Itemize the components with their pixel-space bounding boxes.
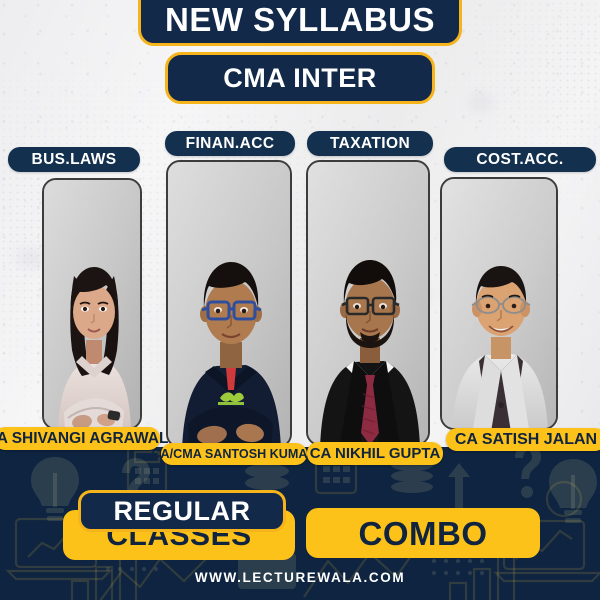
subject-tag-label: FINAN.ACC [186,135,275,153]
badge-new-syllabus-label: NEW SYLLABUS [165,1,435,39]
faculty-name-label: CA/CMA SANTOSH KUMAR [151,447,316,461]
badge-regular: REGULAR [78,490,286,532]
subject-tag-cost-acc: COST.ACC. [444,147,596,172]
subject-tag-taxation: TAXATION [307,131,433,156]
faculty-name-plate-shivangi-agrawal: CA SHIVANGI AGRAWAL [0,427,160,450]
faculty-portrait-satish-jalan [442,179,556,428]
subject-tag-label: BUS.LAWS [31,151,116,169]
faculty-name-label: CA SHIVANGI AGRAWAL [0,430,168,448]
background-smudge [470,96,492,109]
faculty-portrait-nikhil-gupta [308,162,428,444]
poster-canvas: NEW SYLLABUS CMA INTER BUS.LAWS FINAN.AC… [0,0,600,600]
background-smudge [18,250,44,266]
badge-cma-inter: CMA INTER [165,52,435,104]
badge-combo: COMBO [306,508,540,558]
badge-new-syllabus: NEW SYLLABUS [138,0,462,46]
faculty-photo-card-finan-acc [166,160,292,448]
faculty-photo-card-bus-laws [42,178,142,430]
badge-cma-inter-label: CMA INTER [223,63,377,94]
faculty-portrait-santosh-kumar [168,162,290,446]
faculty-photo-card-taxation [306,160,430,446]
faculty-name-plate-nikhil-gupta: CA NIKHIL GUPTA [307,442,443,465]
subject-tag-finan-acc: FINAN.ACC [165,131,295,156]
badge-combo-label: COMBO [359,517,488,550]
website-url: WWW.LECTUREWALA.COM [0,570,600,585]
subject-tag-bus-laws: BUS.LAWS [8,147,140,172]
faculty-name-plate-satish-jalan: CA SATISH JALAN [446,428,600,451]
faculty-name-label: CA SATISH JALAN [455,431,597,449]
faculty-portrait-shivangi-agrawal [44,180,140,428]
subject-tag-label: COST.ACC. [476,151,563,169]
badge-regular-label: REGULAR [114,498,251,525]
faculty-name-label: CA NIKHIL GUPTA [310,445,441,462]
subject-tag-label: TAXATION [330,135,410,153]
faculty-name-plate-santosh-kumar: CA/CMA SANTOSH KUMAR [161,443,307,465]
arrow-up-icon [446,461,472,513]
faculty-photo-card-cost-acc [440,177,558,430]
